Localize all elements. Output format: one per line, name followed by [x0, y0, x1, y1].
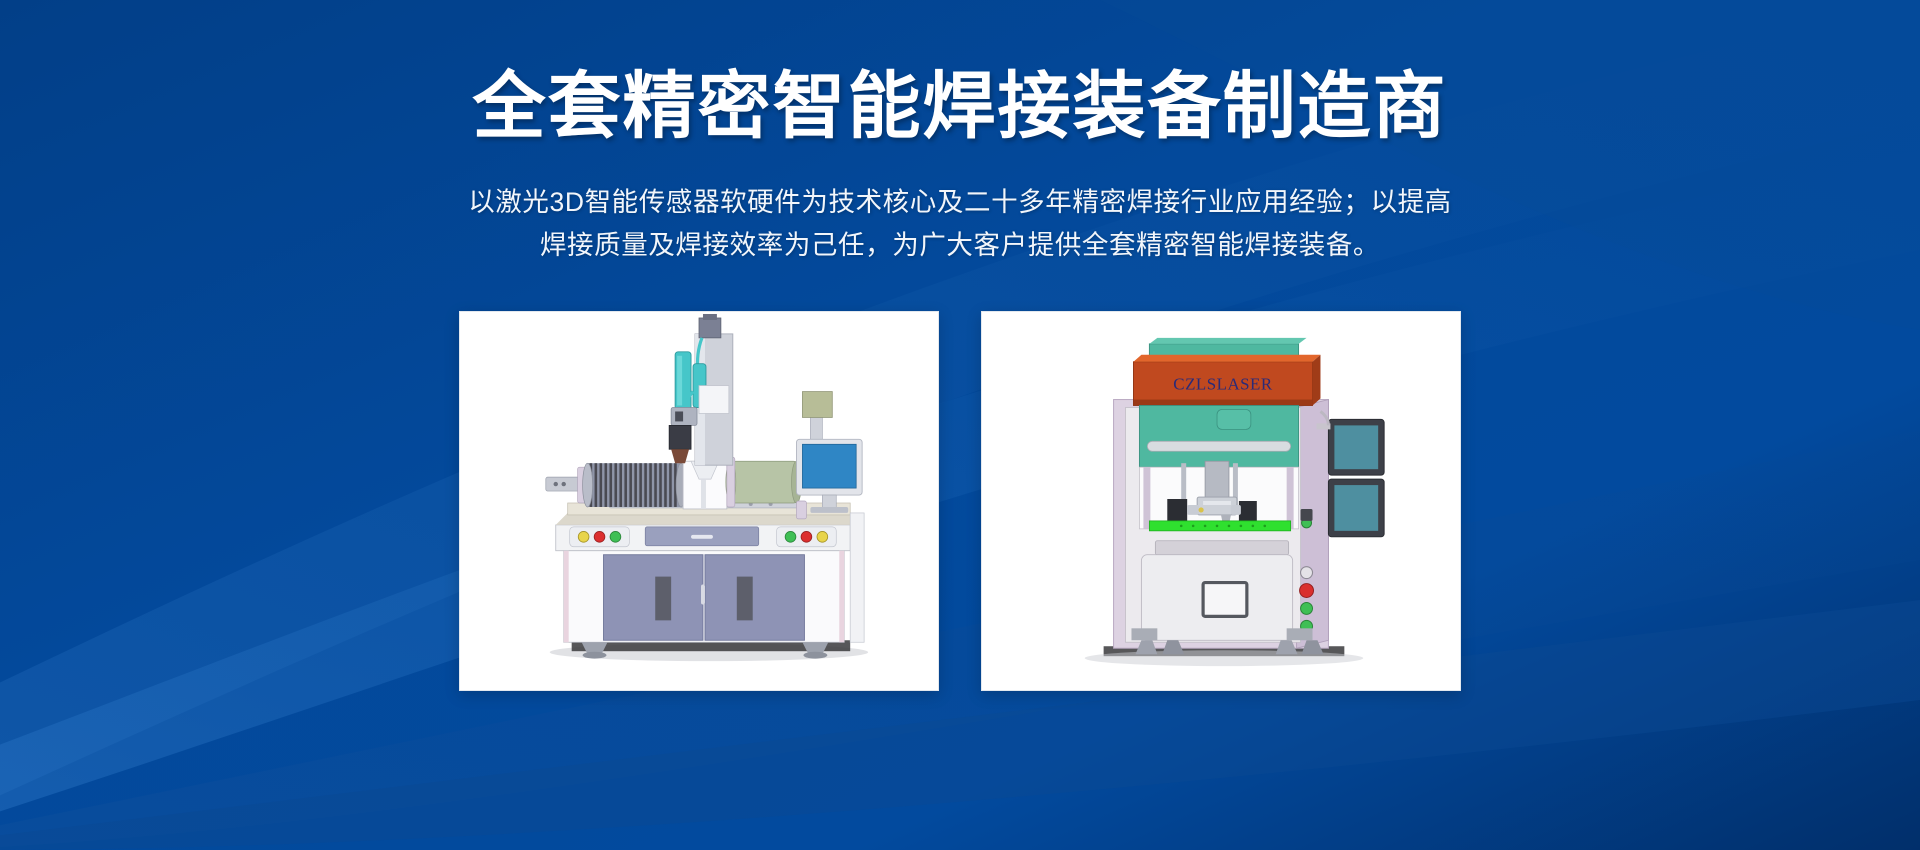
indicator-light-icon [578, 532, 589, 543]
enclosed-laser-welding-machine-illustration: CZLSLASER [982, 312, 1460, 690]
hero-text-block: 全套精密智能焊接装备制造商 以激光3D智能传感器软硬件为技术核心及二十多年精密焊… [0, 0, 1920, 267]
monitor-icon [802, 392, 832, 418]
indicator-light-icon [817, 532, 828, 543]
hero-subtitle: 以激光3D智能传感器软硬件为技术核心及二十多年精密焊接行业应用经验；以提高 焊接… [400, 181, 1520, 267]
indicator-light-icon [610, 532, 621, 543]
precision-laser-welding-workstation-illustration [460, 312, 938, 690]
indicator-light-icon [594, 532, 605, 543]
indicator-light-icon [801, 532, 812, 543]
product-image-gallery: CZLSLASER [0, 311, 1920, 691]
indicator-light-icon [785, 532, 796, 543]
indicator-light-icon [1301, 567, 1313, 579]
product-card-left[interactable] [459, 311, 939, 691]
brand-label: CZLSLASER [1173, 375, 1273, 394]
subtitle-line-2: 焊接质量及焊接效率为己任，为广大客户提供全套精密智能焊接装备。 [400, 224, 1520, 267]
product-card-right[interactable]: CZLSLASER [981, 311, 1461, 691]
hero-banner: 全套精密智能焊接装备制造商 以激光3D智能传感器软硬件为技术核心及二十多年精密焊… [0, 0, 1920, 850]
subtitle-line-1: 以激光3D智能传感器软硬件为技术核心及二十多年精密焊接行业应用经验；以提高 [400, 181, 1520, 224]
page-title: 全套精密智能焊接装备制造商 [0, 62, 1920, 151]
indicator-light-icon [1301, 603, 1313, 615]
indicator-light-icon [1300, 584, 1314, 598]
